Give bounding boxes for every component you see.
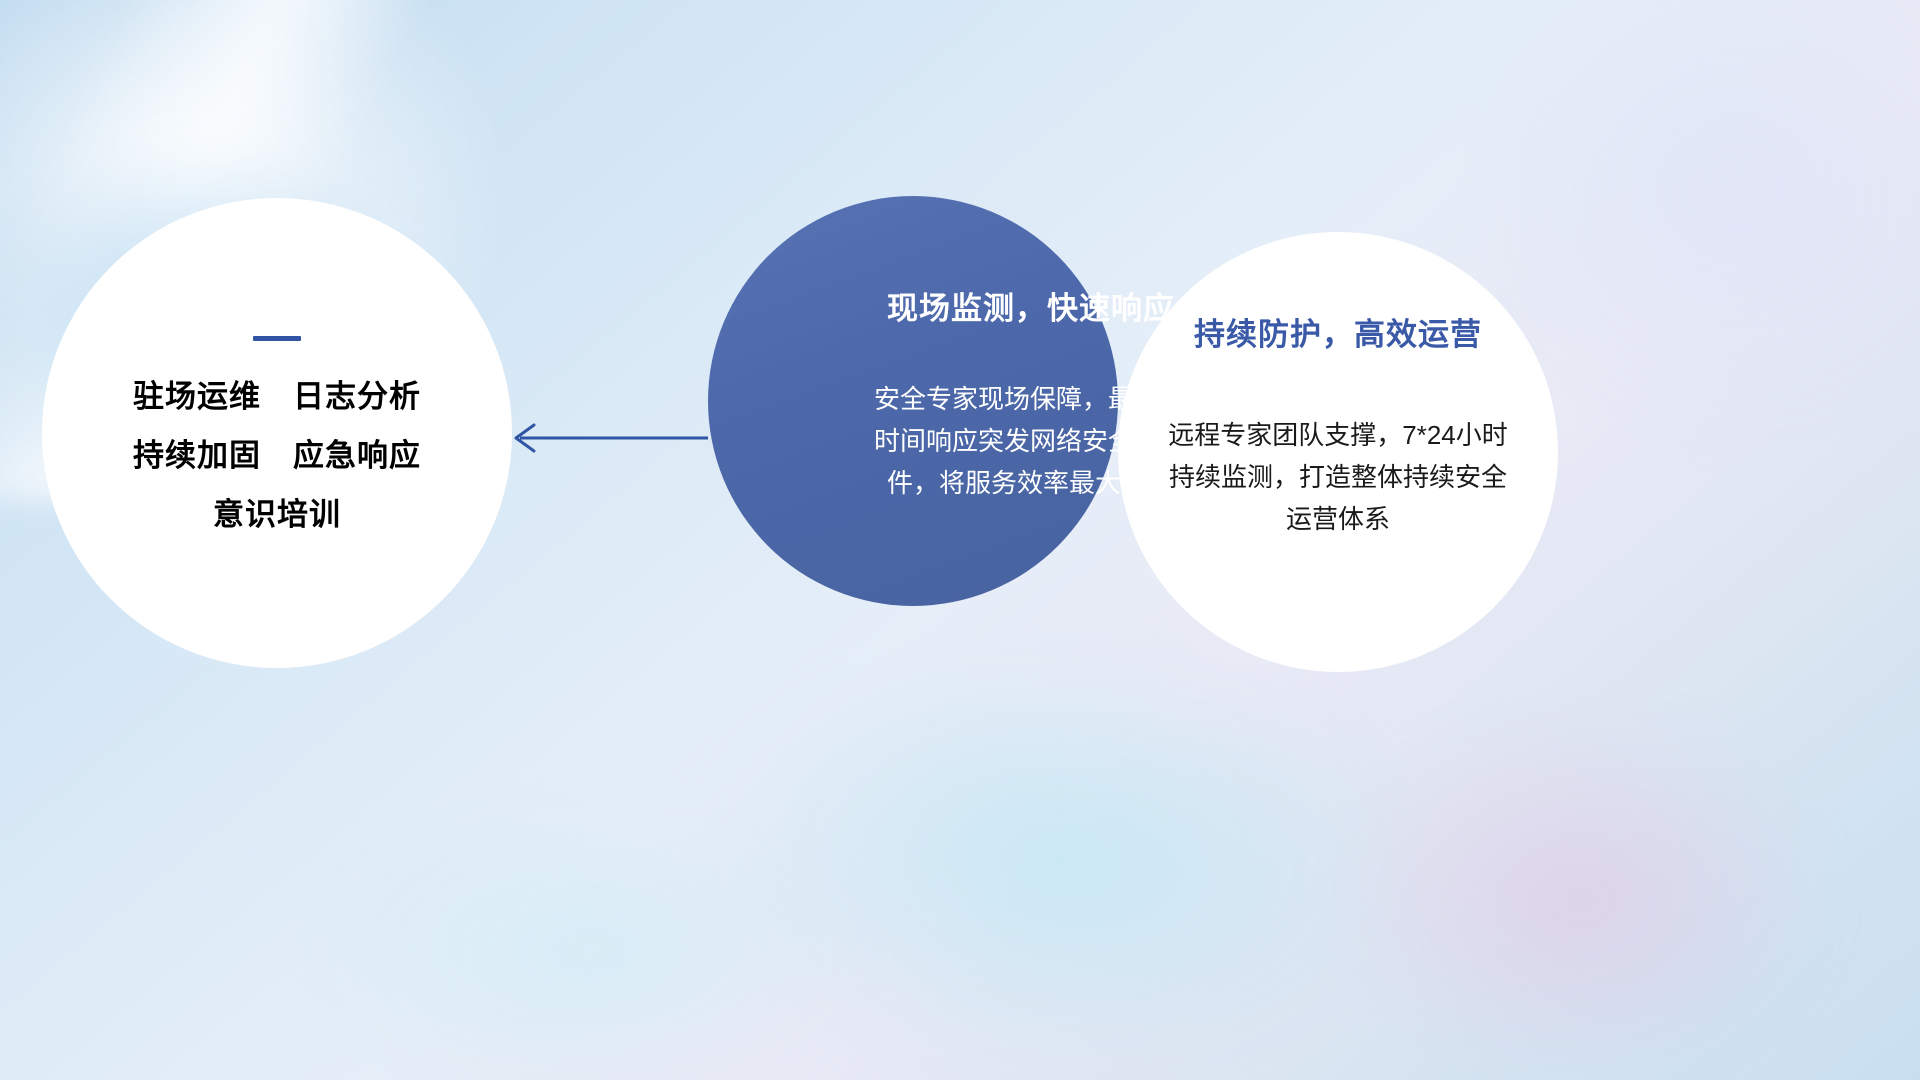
slide-canvas: 驻场运维 日志分析 持续加固 应急响应 意识培训 持续防护，高效运营 远程专家团…	[0, 0, 1920, 1080]
middle-circle-body: 安全专家现场保障，最短时间响应突发网络安全事件，将服务效率最大化	[862, 378, 1172, 504]
right-circle-content: 持续防护，高效运营 远程专家团队支撑，7*24小时持续监测，打造整体持续安全运营…	[1118, 232, 1558, 672]
right-circle-body: 远程专家团队支撑，7*24小时持续监测，打造整体持续安全运营体系	[1158, 414, 1518, 540]
right-circle-title: 持续防护，高效运营	[1194, 318, 1482, 352]
background-glow-bottom-left	[180, 740, 1000, 1080]
background-glow-pink-bottom-right	[1230, 640, 1920, 1080]
middle-circle-content: 现场监测，快速响应 安全专家现场保障，最短时间响应突发网络安全事件，将服务效率最…	[708, 196, 1118, 606]
middle-circle-title: 现场监测，快速响应	[887, 292, 1175, 326]
left-circle-content: 驻场运维 日志分析 持续加固 应急响应 意识培训	[42, 198, 512, 668]
left-circle-line-3: 意识培训	[213, 499, 341, 530]
left-pointing-arrow	[490, 408, 710, 468]
left-circle-line-1: 驻场运维 日志分析	[133, 381, 421, 412]
left-circle-line-2: 持续加固 应急响应	[133, 440, 421, 471]
divider-dash-icon	[253, 336, 301, 341]
